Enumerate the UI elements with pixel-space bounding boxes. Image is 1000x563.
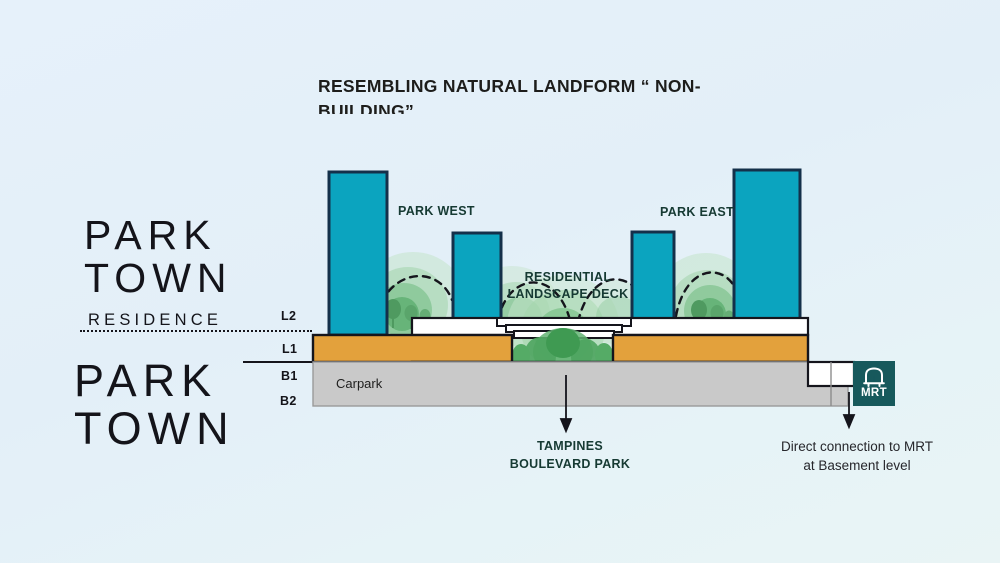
slide-canvas: RESEMBLING NATURAL LANDFORM “ NON-BUILDI… <box>0 0 1000 563</box>
mrt-station-badge: MRT <box>853 361 895 406</box>
annotation-tampines-line2: BOULEVARD PARK <box>510 457 630 471</box>
annotation-tampines-line1: TAMPINES <box>537 439 603 453</box>
annotation-mrt-line2: at Basement level <box>803 458 910 473</box>
label-carpark: Carpark <box>336 376 382 391</box>
label-park-east: PARK EAST <box>660 205 734 219</box>
train-icon <box>861 367 887 387</box>
tower-park-east-tall <box>734 170 800 335</box>
section-diagram <box>0 0 1000 563</box>
annotation-mrt-line1: Direct connection to MRT <box>781 439 933 454</box>
annotation-tampines-boulevard-park: TAMPINES BOULEVARD PARK <box>480 437 660 473</box>
annotation-mrt-connection: Direct connection to MRT at Basement lev… <box>748 437 966 475</box>
label-park-west: PARK WEST <box>398 204 475 218</box>
basement-carpark-slab <box>313 362 848 406</box>
mrt-badge-label: MRT <box>861 388 887 400</box>
label-residential-landscape-deck: RESIDENTIAL LANDSCAPE DECK <box>507 269 629 303</box>
tower-park-west-tall <box>329 172 387 335</box>
